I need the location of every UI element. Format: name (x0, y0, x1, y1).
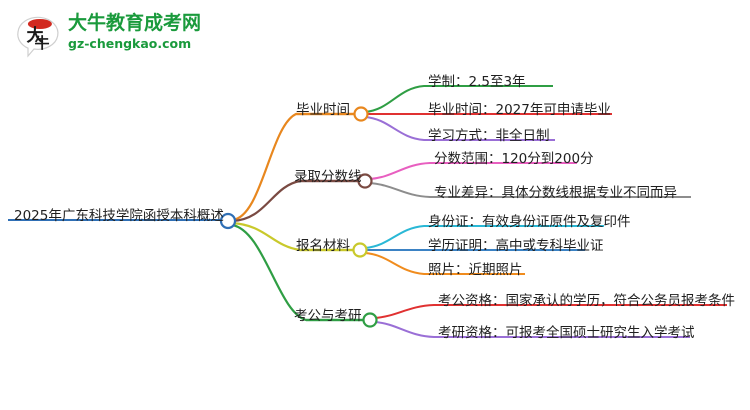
leaf-label-xuexi-fangshi[interactable]: 学习方式：非全日制 (428, 124, 550, 144)
branch-label-kaogong-kaoyan[interactable]: 考公与考研 (294, 304, 362, 324)
leaf-label-fenshu-fanwei[interactable]: 分数范围：120分到200分 (434, 147, 594, 167)
leaf-label-kaoyan-zige[interactable]: 考研资格：可报考全国硕士研究生入学考试 (438, 321, 695, 341)
leaf-label-xuezhi[interactable]: 学制：2.5至3年 (428, 70, 526, 90)
branch-3-node-circle[interactable] (354, 244, 367, 257)
branch-label-baoming-cailiao[interactable]: 报名材料 (296, 234, 350, 254)
connector-root-to-branch-2 (232, 181, 361, 221)
branch-1-node-circle[interactable] (355, 108, 368, 121)
leaf-label-zhuanye-chayi[interactable]: 专业差异：具体分数线根据专业不同而异 (434, 181, 677, 201)
branch-label-luqu-fenshuxian[interactable]: 录取分数线 (294, 165, 362, 185)
leaf-label-shenfenzheng[interactable]: 身份证：有效身份证原件及复印件 (428, 210, 631, 230)
root-node-label[interactable]: 2025年广东科技学院函授本科概述 (14, 204, 224, 224)
branch-4-node-circle[interactable] (364, 314, 377, 327)
branch-label-biye-shijian[interactable]: 毕业时间 (296, 98, 350, 118)
leaf-label-zhaopian[interactable]: 照片：近期照片 (428, 258, 523, 278)
leaf-label-xueli-zhengming[interactable]: 学历证明：高中或专科毕业证 (428, 234, 604, 254)
mindmap-canvas: 大 牛 大牛教育成考网 gz-chengkao.com (0, 0, 750, 410)
leaf-label-kaogong-zige[interactable]: 考公资格：国家承认的学历，符合公务员报考条件 (438, 289, 735, 309)
leaf-label-biye-shijian[interactable]: 毕业时间：2027年可申请毕业 (428, 98, 611, 118)
